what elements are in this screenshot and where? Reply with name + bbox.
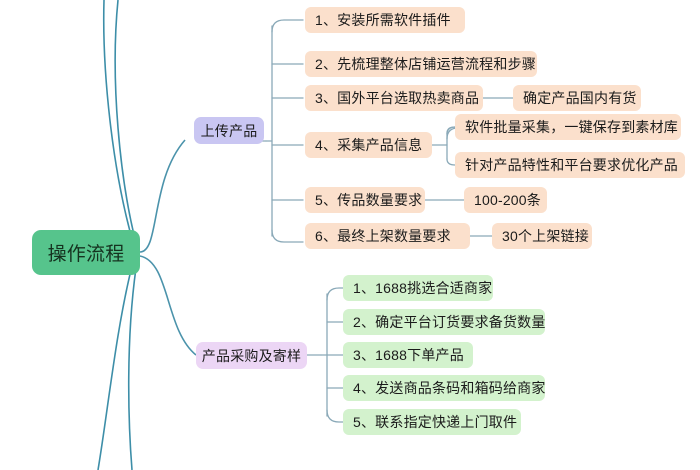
node-upload-item-1-label: 1、安装所需软件插件: [315, 10, 451, 30]
node-purchase-item-2-label: 2、确定平台订货要求备货数量: [353, 312, 546, 332]
node-purchase-item-4-label: 4、发送商品条码和箱码给商家: [353, 378, 546, 398]
node-upload-item-6[interactable]: 6、最终上架数量要求: [305, 223, 470, 249]
node-root-label: 操作流程: [48, 239, 125, 266]
node-purchase-item-4[interactable]: 4、发送商品条码和箱码给商家: [343, 375, 545, 401]
connector-upload-corner-bottom: [272, 230, 303, 242]
connector-purchase-corner-top: [327, 288, 343, 300]
node-upload-item-3-child-1[interactable]: 确定产品国内有货: [513, 85, 641, 111]
node-purchase-item-1-label: 1、1688挑选合适商家: [353, 278, 492, 298]
edge-cutoff-top-a: [115, 0, 136, 243]
node-upload-item-5-child-1-label: 100-200条: [474, 190, 541, 210]
connector-upload-corner-top: [272, 20, 303, 32]
node-upload-item-5-label: 5、传品数量要求: [315, 190, 422, 210]
connector-item4-child1: [447, 127, 455, 133]
node-upload-item-5-child-1[interactable]: 100-200条: [464, 187, 547, 213]
node-upload-item-6-label: 6、最终上架数量要求: [315, 226, 451, 246]
node-upload-item-4-child-2[interactable]: 针对产品特性和平台要求优化产品: [455, 152, 685, 178]
node-branch-upload-label: 上传产品: [201, 121, 258, 141]
edge-root-to-upload: [140, 140, 185, 252]
node-purchase-item-3-label: 3、1688下单产品: [353, 345, 464, 365]
edge-cutoff-bottom-b: [129, 268, 136, 470]
connector-item4-child2: [447, 159, 455, 165]
node-upload-item-4-label: 4、采集产品信息: [315, 135, 422, 155]
edge-root-to-purchase: [140, 256, 196, 355]
node-branch-upload[interactable]: 上传产品: [194, 117, 264, 144]
edge-cutoff-bottom-c: [139, 270, 168, 470]
node-upload-item-6-child-1[interactable]: 30个上架链接: [492, 223, 592, 249]
edge-cutoff-top-b: [104, 0, 134, 246]
node-upload-item-1[interactable]: 1、安装所需软件插件: [305, 7, 465, 33]
node-purchase-item-5-label: 5、联系指定快递上门取件: [353, 412, 517, 432]
node-upload-item-3-label: 3、国外平台选取热卖商品: [315, 88, 479, 108]
connector-purchase-corner-bottom: [327, 410, 343, 422]
mindmap-canvas: 操作流程 上传产品 1、安装所需软件插件 2、先梳理整体店铺运营流程和步骤 3、…: [0, 0, 700, 470]
node-upload-item-4-child-2-label: 针对产品特性和平台要求优化产品: [465, 155, 678, 175]
node-upload-item-5[interactable]: 5、传品数量要求: [305, 187, 425, 213]
node-upload-item-3-child-1-label: 确定产品国内有货: [523, 88, 637, 108]
node-purchase-item-2[interactable]: 2、确定平台订货要求备货数量: [343, 309, 545, 335]
node-upload-item-6-child-1-label: 30个上架链接: [502, 226, 589, 246]
node-upload-item-4-child-1[interactable]: 软件批量采集，一键保存到素材库: [455, 114, 681, 140]
node-purchase-item-3[interactable]: 3、1688下单产品: [343, 342, 473, 368]
node-upload-item-4[interactable]: 4、采集产品信息: [305, 132, 432, 158]
node-branch-purchase[interactable]: 产品采购及寄样: [196, 342, 307, 369]
node-upload-item-2-label: 2、先梳理整体店铺运营流程和步骤: [315, 54, 536, 74]
node-purchase-item-5[interactable]: 5、联系指定快递上门取件: [343, 409, 521, 435]
node-upload-item-3[interactable]: 3、国外平台选取热卖商品: [305, 85, 483, 111]
node-purchase-item-1[interactable]: 1、1688挑选合适商家: [343, 275, 493, 301]
node-branch-purchase-label: 产品采购及寄样: [202, 346, 301, 366]
node-upload-item-2[interactable]: 2、先梳理整体店铺运营流程和步骤: [305, 51, 537, 77]
node-root[interactable]: 操作流程: [32, 230, 140, 275]
node-upload-item-4-child-1-label: 软件批量采集，一键保存到素材库: [465, 117, 678, 137]
edge-cutoff-bottom-a: [98, 266, 132, 470]
